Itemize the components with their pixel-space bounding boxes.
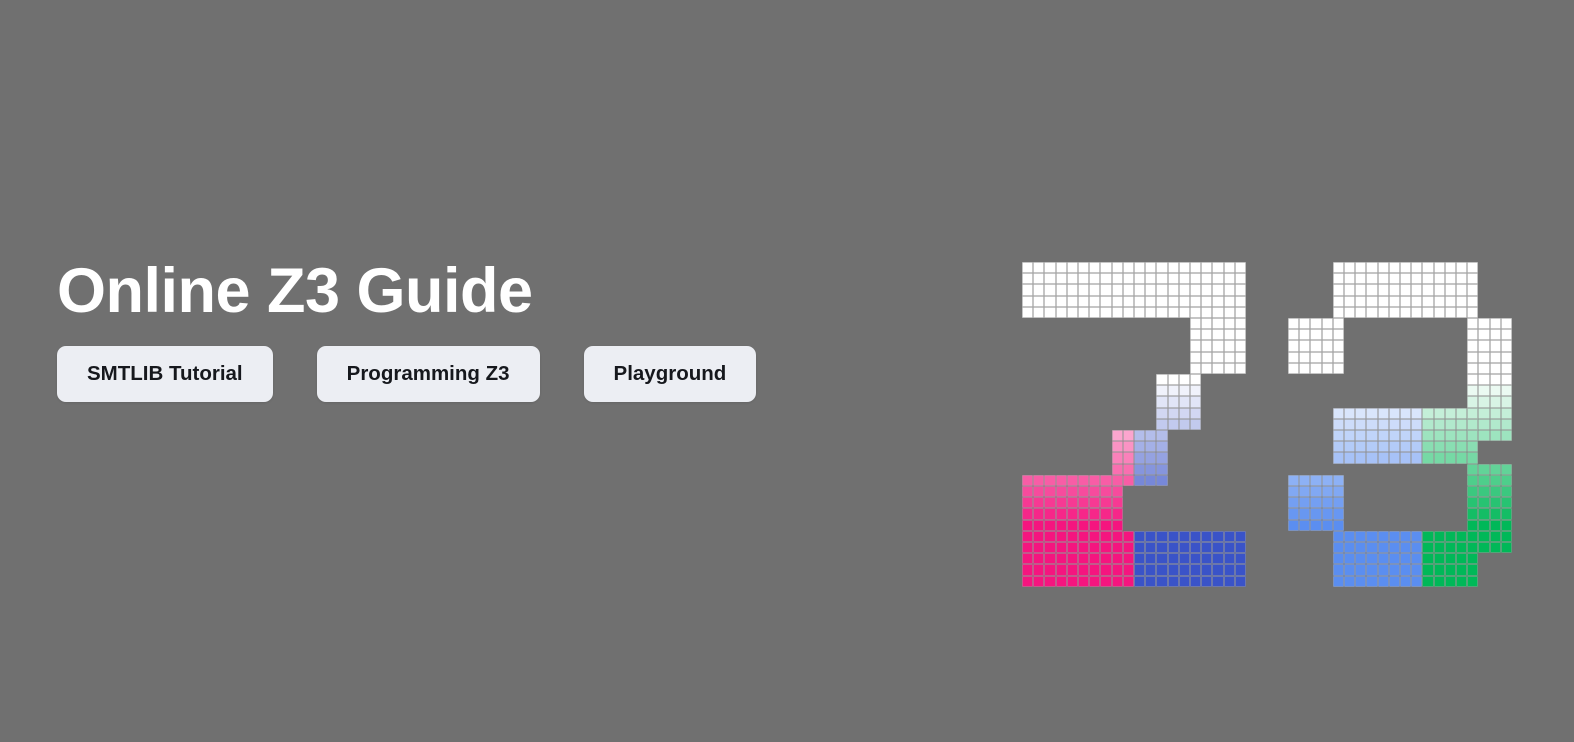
logo-pixel [1123,542,1134,553]
logo-pixel [1078,307,1089,318]
logo-pixel [1400,296,1411,307]
logo-pixel [1355,419,1366,430]
logo-pixel [1078,296,1089,307]
logo-pixel [1145,475,1156,486]
logo-pixel [1501,318,1512,329]
logo-pixel [1422,262,1433,273]
logo-pixel [1288,497,1299,508]
logo-pixel [1490,363,1501,374]
logo-pixel [1134,564,1145,575]
logo-pixel [1467,576,1478,587]
logo-pixel [1310,520,1321,531]
logo-pixel [1333,363,1344,374]
playground-button[interactable]: Playground [584,346,757,402]
logo-pixel [1168,542,1179,553]
logo-pixel [1467,531,1478,542]
logo-pixel [1156,464,1167,475]
logo-pixel [1212,363,1223,374]
logo-pixel [1411,307,1422,318]
logo-pixel [1434,531,1445,542]
logo-pixel [1355,307,1366,318]
logo-pixel [1344,531,1355,542]
logo-pixel [1422,273,1433,284]
logo-pixel [1056,508,1067,519]
logo-pixel [1389,419,1400,430]
logo-pixel [1411,576,1422,587]
logo-pixel [1078,475,1089,486]
logo-pixel [1212,296,1223,307]
logo-pixel [1078,542,1089,553]
logo-pixel [1224,329,1235,340]
logo-pixel [1389,441,1400,452]
logo-pixel [1235,329,1246,340]
logo-pixel [1224,296,1235,307]
logo-pixel [1366,273,1377,284]
logo-pixel [1212,553,1223,564]
logo-pixel [1056,553,1067,564]
logo-pixel [1145,576,1156,587]
logo-pixel [1400,553,1411,564]
logo-pixel [1145,441,1156,452]
logo-pixel [1156,475,1167,486]
logo-pixel [1179,374,1190,385]
logo-pixel [1478,475,1489,486]
logo-pixel [1467,296,1478,307]
logo-pixel [1434,262,1445,273]
logo-pixel [1112,508,1123,519]
logo-pixel [1033,307,1044,318]
logo-pixel [1190,576,1201,587]
logo-pixel [1467,542,1478,553]
logo-pixel [1089,284,1100,295]
logo-pixel [1168,273,1179,284]
logo-pixel [1224,262,1235,273]
logo-pixel [1344,576,1355,587]
logo-pixel [1344,564,1355,575]
logo-pixel [1434,553,1445,564]
logo-pixel [1411,408,1422,419]
logo-pixel [1478,486,1489,497]
logo-pixel [1022,576,1033,587]
logo-pixel [1411,542,1422,553]
logo-pixel [1100,497,1111,508]
logo-pixel [1033,262,1044,273]
logo-pixel [1168,284,1179,295]
logo-pixel [1044,475,1055,486]
logo-pixel [1490,464,1501,475]
logo-pixel [1378,430,1389,441]
programming-z3-button[interactable]: Programming Z3 [317,346,540,402]
logo-pixel [1156,564,1167,575]
logo-pixel [1445,564,1456,575]
logo-pixel [1310,497,1321,508]
logo-pixel [1179,564,1190,575]
logo-pixel [1501,408,1512,419]
logo-pixel [1056,296,1067,307]
logo-pixel [1100,564,1111,575]
logo-pixel [1445,419,1456,430]
logo-pixel [1411,262,1422,273]
logo-pixel [1212,352,1223,363]
logo-pixel [1112,273,1123,284]
logo-pixel [1100,531,1111,542]
logo-pixel [1344,452,1355,463]
logo-pixel [1078,553,1089,564]
logo-pixel [1490,318,1501,329]
logo-pixel [1022,564,1033,575]
logo-pixel [1467,520,1478,531]
logo-pixel [1022,475,1033,486]
logo-pixel [1123,553,1134,564]
logo-pixel [1033,564,1044,575]
logo-pixel [1467,385,1478,396]
logo-pixel [1112,576,1123,587]
logo-pixel [1445,408,1456,419]
logo-pixel [1089,497,1100,508]
logo-pixel [1067,508,1078,519]
logo-pixel [1123,441,1134,452]
logo-pixel [1134,296,1145,307]
logo-pixel [1411,553,1422,564]
logo-pixel [1422,284,1433,295]
logo-pixel [1456,564,1467,575]
logo-pixel [1310,352,1321,363]
logo-pixel [1445,576,1456,587]
logo-pixel [1201,318,1212,329]
logo-pixel [1078,531,1089,542]
logo-pixel [1501,464,1512,475]
logo-pixel [1056,307,1067,318]
logo-pixel [1501,396,1512,407]
logo-pixel [1145,284,1156,295]
logo-pixel [1044,542,1055,553]
logo-pixel [1389,284,1400,295]
logo-pixel [1190,385,1201,396]
logo-pixel [1445,553,1456,564]
logo-pixel [1501,531,1512,542]
logo-pixel [1355,531,1366,542]
hero-section: Online Z3 Guide SMTLIB Tutorial Programm… [0,0,1574,742]
logo-pixel [1089,508,1100,519]
logo-pixel [1299,508,1310,519]
logo-pixel [1299,352,1310,363]
logo-pixel [1333,452,1344,463]
logo-pixel [1179,576,1190,587]
logo-pixel [1212,307,1223,318]
logo-pixel [1235,576,1246,587]
logo-pixel [1378,553,1389,564]
logo-pixel [1056,262,1067,273]
logo-pixel [1168,576,1179,587]
logo-pixel [1445,542,1456,553]
logo-pixel [1201,352,1212,363]
logo-pixel [1411,531,1422,542]
logo-pixel [1400,576,1411,587]
logo-pixel [1389,452,1400,463]
logo-pixel [1156,452,1167,463]
logo-pixel [1422,307,1433,318]
logo-pixel [1156,284,1167,295]
logo-pixel [1022,531,1033,542]
logo-pixel [1378,419,1389,430]
logo-pixel [1322,508,1333,519]
logo-pixel [1310,329,1321,340]
logo-pixel [1490,508,1501,519]
logo-pixel [1044,553,1055,564]
logo-pixel [1389,542,1400,553]
logo-pixel [1112,475,1123,486]
logo-pixel [1033,576,1044,587]
logo-pixel [1033,273,1044,284]
logo-pixel [1389,564,1400,575]
logo-pixel [1355,542,1366,553]
logo-pixel [1168,564,1179,575]
logo-pixel [1235,531,1246,542]
logo-pixel [1212,273,1223,284]
logo-pixel [1168,307,1179,318]
logo-pixel [1467,441,1478,452]
logo-pixel [1434,441,1445,452]
logo-pixel [1478,352,1489,363]
logo-pixel [1022,296,1033,307]
logo-pixel [1378,542,1389,553]
logo-pixel [1156,396,1167,407]
logo-pixel [1478,430,1489,441]
logo-pixel [1366,262,1377,273]
logo-pixel [1201,363,1212,374]
logo-pixel [1333,307,1344,318]
logo-pixel [1089,486,1100,497]
logo-pixel [1366,452,1377,463]
logo-pixel [1067,307,1078,318]
logo-pixel [1156,542,1167,553]
logo-pixel [1235,352,1246,363]
logo-pixel [1212,340,1223,351]
logo-pixel [1190,352,1201,363]
logo-pixel [1310,486,1321,497]
logo-pixel [1299,475,1310,486]
logo-pixel [1022,520,1033,531]
logo-pixel [1190,329,1201,340]
logo-pixel [1501,520,1512,531]
z3-pixel-logo [1022,262,1526,587]
logo-pixel [1033,553,1044,564]
logo-pixel [1467,374,1478,385]
logo-pixel [1478,419,1489,430]
smtlib-tutorial-button[interactable]: SMTLIB Tutorial [57,346,273,402]
logo-pixel [1478,508,1489,519]
logo-pixel [1333,520,1344,531]
logo-pixel [1378,441,1389,452]
logo-pixel [1378,296,1389,307]
logo-pixel [1299,318,1310,329]
logo-pixel [1400,430,1411,441]
logo-pixel [1078,497,1089,508]
logo-pixel [1134,475,1145,486]
logo-pixel [1033,486,1044,497]
logo-pixel [1389,262,1400,273]
logo-pixel [1434,296,1445,307]
logo-pixel [1456,531,1467,542]
logo-pixel [1089,564,1100,575]
logo-pixel [1344,262,1355,273]
logo-pixel [1322,475,1333,486]
logo-pixel [1044,531,1055,542]
logo-pixel [1501,374,1512,385]
logo-pixel [1056,284,1067,295]
logo-pixel [1044,296,1055,307]
logo-pixel [1501,508,1512,519]
logo-pixel [1422,542,1433,553]
logo-pixel [1190,318,1201,329]
logo-pixel [1235,340,1246,351]
logo-pixel [1212,542,1223,553]
logo-pixel [1112,452,1123,463]
logo-pixel [1355,452,1366,463]
logo-pixel [1344,273,1355,284]
logo-pixel [1434,408,1445,419]
logo-pixel [1310,318,1321,329]
logo-pixel [1112,542,1123,553]
logo-pixel [1467,419,1478,430]
logo-pixel [1134,576,1145,587]
logo-pixel [1033,542,1044,553]
logo-pixel [1422,441,1433,452]
logo-pixel [1067,564,1078,575]
logo-pixel [1322,352,1333,363]
logo-pixel [1056,497,1067,508]
logo-pixel [1168,296,1179,307]
logo-pixel [1411,273,1422,284]
logo-pixel [1022,262,1033,273]
logo-pixel [1089,307,1100,318]
logo-pixel [1445,531,1456,542]
logo-pixel [1212,564,1223,575]
logo-pixel [1467,352,1478,363]
logo-pixel [1134,441,1145,452]
logo-pixel [1501,352,1512,363]
logo-pixel [1201,296,1212,307]
logo-pixel [1235,564,1246,575]
logo-pixel [1434,542,1445,553]
logo-pixel [1456,296,1467,307]
logo-pixel [1467,497,1478,508]
logo-pixel [1134,464,1145,475]
logo-pixel [1112,553,1123,564]
logo-pixel [1322,497,1333,508]
logo-pixel [1478,329,1489,340]
logo-pixel [1445,441,1456,452]
logo-pixel [1490,385,1501,396]
logo-pixel [1179,273,1190,284]
logo-pixel [1168,396,1179,407]
logo-pixel [1190,553,1201,564]
logo-pixel [1235,262,1246,273]
logo-pixel [1490,520,1501,531]
logo-pixel [1089,475,1100,486]
logo-pixel [1344,296,1355,307]
logo-pixel [1333,508,1344,519]
logo-pixel [1344,542,1355,553]
logo-pixel [1145,273,1156,284]
logo-pixel [1089,576,1100,587]
logo-pixel [1288,329,1299,340]
logo-pixel [1112,497,1123,508]
logo-pixel [1378,408,1389,419]
logo-pixel [1389,576,1400,587]
logo-pixel [1123,273,1134,284]
logo-pixel [1156,307,1167,318]
logo-pixel [1067,520,1078,531]
logo-pixel [1212,531,1223,542]
logo-pixel [1456,284,1467,295]
logo-pixel [1445,430,1456,441]
logo-pixel [1434,564,1445,575]
logo-pixel [1322,318,1333,329]
logo-pixel [1044,520,1055,531]
hero-button-row: SMTLIB Tutorial Programming Z3 Playgroun… [57,346,957,402]
logo-pixel [1123,262,1134,273]
logo-pixel [1434,419,1445,430]
logo-pixel [1299,363,1310,374]
logo-pixel [1299,520,1310,531]
logo-pixel [1089,542,1100,553]
logo-pixel [1044,508,1055,519]
logo-pixel [1422,553,1433,564]
logo-pixel [1190,262,1201,273]
logo-pixel [1501,385,1512,396]
logo-pixel [1235,284,1246,295]
logo-pixel [1100,576,1111,587]
logo-pixel [1411,564,1422,575]
logo-pixel [1179,531,1190,542]
logo-pixel [1467,553,1478,564]
logo-pixel [1422,452,1433,463]
logo-pixel [1156,296,1167,307]
logo-pixel [1310,475,1321,486]
logo-pixel [1123,430,1134,441]
logo-pixel [1201,273,1212,284]
logo-pixel [1478,385,1489,396]
logo-pixel [1156,408,1167,419]
logo-pixel [1467,464,1478,475]
logo-pixel [1190,307,1201,318]
logo-pixel [1400,419,1411,430]
logo-pixel [1179,542,1190,553]
logo-pixel [1022,553,1033,564]
logo-pixel [1411,430,1422,441]
logo-pixel [1389,408,1400,419]
logo-pixel [1456,430,1467,441]
logo-pixel [1456,273,1467,284]
logo-pixel [1456,441,1467,452]
logo-pixel [1156,430,1167,441]
logo-pixel [1201,531,1212,542]
logo-pixel [1145,452,1156,463]
logo-pixel [1168,553,1179,564]
logo-pixel [1033,284,1044,295]
logo-pixel [1212,576,1223,587]
logo-pixel [1322,363,1333,374]
logo-pixel [1344,553,1355,564]
logo-pixel [1201,284,1212,295]
logo-pixel [1378,576,1389,587]
logo-pixel [1490,396,1501,407]
logo-pixel [1145,542,1156,553]
logo-pixel [1366,307,1377,318]
logo-pixel [1156,576,1167,587]
logo-pixel [1179,307,1190,318]
